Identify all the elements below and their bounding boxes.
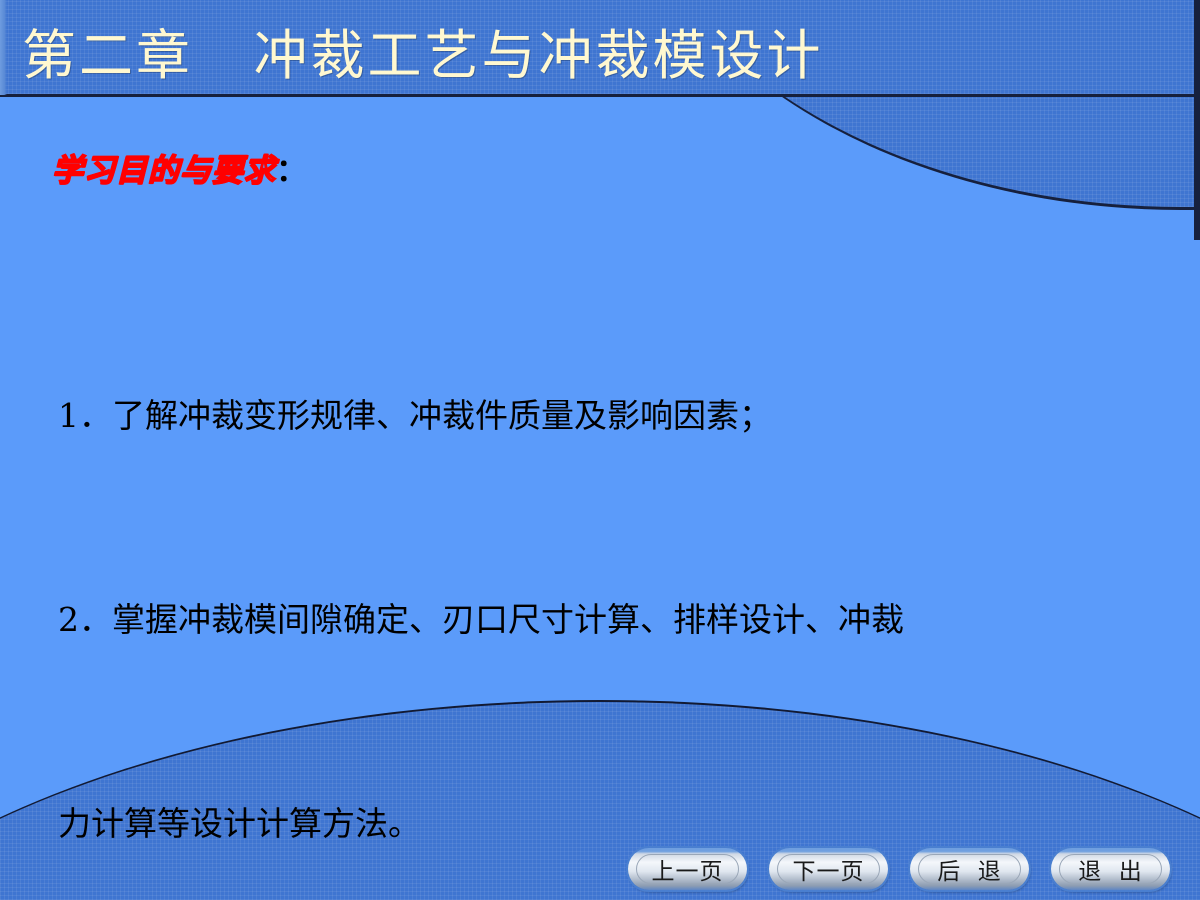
list-item: 2．掌握冲裁模间隙确定、刃口尺寸计算、排样设计、冲裁 (58, 586, 1168, 654)
next-page-label: 下一页 (793, 852, 865, 886)
prev-page-button[interactable]: 上一页 (628, 848, 747, 890)
presentation-slide: 第二章 冲裁工艺与冲裁模设计 学习目的与要求： 1．了解冲裁变形规律、冲裁件质量… (0, 0, 1200, 900)
navigation-bar: 上一页 下一页 后 退 退 出 (628, 848, 1170, 890)
back-label: 后 退 (937, 852, 1002, 886)
list-item: 1．了解冲裁变形规律、冲裁件质量及影响因素； (58, 382, 1168, 450)
subtitle-label: 学习目的与要求 (52, 153, 276, 189)
subtitle-colon: ： (276, 153, 307, 189)
back-button[interactable]: 后 退 (910, 848, 1029, 890)
exit-button[interactable]: 退 出 (1051, 848, 1170, 890)
objectives-list: 1．了解冲裁变形规律、冲裁件质量及影响因素； 2．掌握冲裁模间隙确定、刃口尺寸计… (58, 246, 1168, 900)
next-page-button[interactable]: 下一页 (769, 848, 888, 890)
subtitle-learning-objectives: 学习目的与要求： (52, 145, 307, 190)
exit-label: 退 出 (1078, 852, 1143, 886)
page-title: 第二章 冲裁工艺与冲裁模设计 (0, 8, 1200, 92)
prev-page-label: 上一页 (652, 852, 724, 886)
